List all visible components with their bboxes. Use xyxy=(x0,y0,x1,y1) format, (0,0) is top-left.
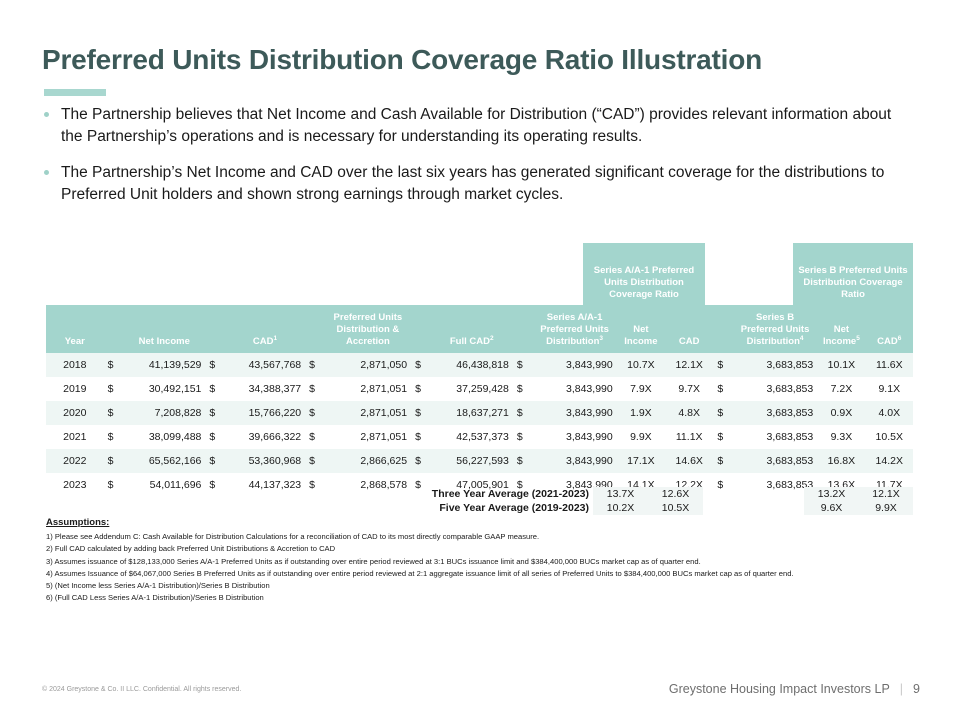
list-item: The Partnership’s Net Income and CAD ove… xyxy=(44,162,914,206)
col-year: Year xyxy=(46,305,104,353)
cell-currency: $ xyxy=(305,449,325,473)
col-series-b-ni-footnote: 5 xyxy=(856,335,860,342)
col-pref-dist-accretion: Preferred Units Distribution & Accretion xyxy=(325,305,411,353)
cell-series-a-cad-ratio: 9.7X xyxy=(665,377,713,401)
cell-currency: $ xyxy=(205,425,225,449)
cell-series-a-cad-ratio: 11.1X xyxy=(665,425,713,449)
footer-company: Greystone Housing Impact Investors LP xyxy=(669,682,890,696)
average-series-b-cad-ratio: 12.1X xyxy=(859,487,913,501)
cell-currency: $ xyxy=(305,377,325,401)
cell-series-a-dist: 3,843,990 xyxy=(532,353,616,377)
cell-full-cad: 56,227,593 xyxy=(431,449,513,473)
assumption-line: 6) (Full CAD Less Series A/A-1 Distribut… xyxy=(46,592,926,604)
table-header: Year Net Income CAD1 Preferred Units Dis… xyxy=(46,305,913,353)
table-row: 2021$38,099,488$39,666,322$2,871,051$42,… xyxy=(46,425,913,449)
average-spacer xyxy=(703,487,804,501)
assumption-line: 1) Please see Addendum C: Cash Available… xyxy=(46,531,926,543)
col-series-b-dist-footnote: 4 xyxy=(800,335,804,342)
bullet-dot-icon xyxy=(44,112,49,117)
cell-currency: $ xyxy=(411,449,431,473)
cell-year: 2018 xyxy=(46,353,104,377)
average-row: Three Year Average (2021-2023)13.7X12.6X… xyxy=(46,487,913,501)
cell-series-b-cad-ratio: 10.5X xyxy=(866,425,913,449)
footer-right: Greystone Housing Impact Investors LP | … xyxy=(669,682,920,696)
average-spacer xyxy=(703,501,804,515)
cell-year: 2021 xyxy=(46,425,104,449)
assumption-line: 3) Assumes issuance of $128,133,000 Seri… xyxy=(46,556,926,568)
cell-pref-dist-accretion: 2,871,051 xyxy=(325,425,411,449)
bullet-dot-icon xyxy=(44,170,49,175)
cell-series-a-dist: 3,843,990 xyxy=(532,401,616,425)
cell-currency: $ xyxy=(104,449,124,473)
averages-section: Three Year Average (2021-2023)13.7X12.6X… xyxy=(46,487,913,515)
cell-currency: $ xyxy=(411,401,431,425)
cell-cad: 15,766,220 xyxy=(225,401,305,425)
average-series-b-net-income-ratio: 13.2X xyxy=(804,487,859,501)
cell-net-income: 38,099,488 xyxy=(123,425,205,449)
bullet-list: The Partnership believes that Net Income… xyxy=(44,104,914,220)
cell-pref-dist-accretion: 2,871,051 xyxy=(325,401,411,425)
col-series-a-dist-footnote: 3 xyxy=(599,335,603,342)
bullet-text: The Partnership believes that Net Income… xyxy=(61,104,914,148)
cell-currency: $ xyxy=(205,377,225,401)
assumption-line: 5) (Net Income less Series A/A-1 Distrib… xyxy=(46,580,926,592)
table-row: 2019$30,492,151$34,388,377$2,871,051$37,… xyxy=(46,377,913,401)
col-series-a-net-income: Net Income xyxy=(617,305,665,353)
cell-currency: $ xyxy=(305,353,325,377)
cell-full-cad: 37,259,428 xyxy=(431,377,513,401)
cell-currency: $ xyxy=(713,377,733,401)
cell-currency: $ xyxy=(513,377,533,401)
assumptions-title: Assumptions: xyxy=(46,517,926,528)
table-row: 2020$7,208,828$15,766,220$2,871,051$18,6… xyxy=(46,401,913,425)
cell-series-b-dist: 3,683,853 xyxy=(733,425,817,449)
cell-currency: $ xyxy=(513,401,533,425)
average-series-a-net-income-ratio: 10.2X xyxy=(593,501,648,515)
cell-series-b-net-income-ratio: 0.9X xyxy=(817,401,865,425)
col-currency-pref-dist xyxy=(305,305,325,353)
cell-currency: $ xyxy=(411,377,431,401)
average-series-b-cad-ratio: 9.9X xyxy=(859,501,913,515)
footer-divider: | xyxy=(900,682,903,696)
cell-series-b-dist: 3,683,853 xyxy=(733,377,817,401)
col-cad: CAD1 xyxy=(225,305,305,353)
assumption-line: 4) Assumes Issuance of $64,067,000 Serie… xyxy=(46,568,926,580)
col-full-cad: Full CAD2 xyxy=(431,305,513,353)
col-cad-footnote: 1 xyxy=(274,335,278,342)
col-series-a-dist: Series A/A-1 Preferred Units Distributio… xyxy=(532,305,616,353)
col-net-income: Net Income xyxy=(123,305,205,353)
cell-full-cad: 46,438,818 xyxy=(431,353,513,377)
col-full-cad-footnote: 2 xyxy=(490,335,494,342)
cell-currency: $ xyxy=(713,401,733,425)
cell-pref-dist-accretion: 2,866,625 xyxy=(325,449,411,473)
average-label: Three Year Average (2021-2023) xyxy=(46,487,593,501)
cell-currency: $ xyxy=(104,377,124,401)
cell-series-a-dist: 3,843,990 xyxy=(532,425,616,449)
average-series-a-cad-ratio: 10.5X xyxy=(648,501,703,515)
col-series-b-cad: CAD6 xyxy=(866,305,913,353)
cell-series-b-net-income-ratio: 9.3X xyxy=(817,425,865,449)
cell-full-cad: 18,637,271 xyxy=(431,401,513,425)
cell-currency: $ xyxy=(513,353,533,377)
cell-currency: $ xyxy=(205,401,225,425)
cell-series-b-dist: 3,683,853 xyxy=(733,449,817,473)
cell-net-income: 30,492,151 xyxy=(123,377,205,401)
col-currency-full-cad xyxy=(411,305,431,353)
cell-currency: $ xyxy=(411,353,431,377)
cell-series-b-cad-ratio: 14.2X xyxy=(866,449,913,473)
table-row: 2018$41,139,529$43,567,768$2,871,050$46,… xyxy=(46,353,913,377)
cell-cad: 43,567,768 xyxy=(225,353,305,377)
cell-full-cad: 42,537,373 xyxy=(431,425,513,449)
average-label: Five Year Average (2019-2023) xyxy=(46,501,593,515)
cell-net-income: 7,208,828 xyxy=(123,401,205,425)
average-series-b-net-income-ratio: 9.6X xyxy=(804,501,859,515)
table-body: 2018$41,139,529$43,567,768$2,871,050$46,… xyxy=(46,353,913,497)
cell-series-b-cad-ratio: 11.6X xyxy=(866,353,913,377)
col-series-b-cad-footnote: 6 xyxy=(898,335,902,342)
cell-currency: $ xyxy=(713,353,733,377)
average-series-a-net-income-ratio: 13.7X xyxy=(593,487,648,501)
cell-pref-dist-accretion: 2,871,050 xyxy=(325,353,411,377)
group-header-series-a: Series A/A-1 Preferred Units Distributio… xyxy=(583,243,705,305)
col-currency-series-b-dist xyxy=(713,305,733,353)
cell-series-a-dist: 3,843,990 xyxy=(532,449,616,473)
cell-currency: $ xyxy=(104,353,124,377)
cell-series-a-cad-ratio: 14.6X xyxy=(665,449,713,473)
average-row: Five Year Average (2019-2023)10.2X10.5X9… xyxy=(46,501,913,515)
cell-currency: $ xyxy=(513,425,533,449)
col-currency-series-a-dist xyxy=(513,305,533,353)
cell-currency: $ xyxy=(205,353,225,377)
cell-pref-dist-accretion: 2,871,051 xyxy=(325,377,411,401)
cell-series-a-net-income-ratio: 1.9X xyxy=(617,401,665,425)
title-accent-rule xyxy=(44,89,106,96)
cell-net-income: 65,562,166 xyxy=(123,449,205,473)
footer-copyright: © 2024 Greystone & Co. II LLC. Confident… xyxy=(42,686,241,693)
col-series-a-cad: CAD xyxy=(665,305,713,353)
cell-currency: $ xyxy=(305,401,325,425)
cell-currency: $ xyxy=(104,425,124,449)
col-series-b-dist: Series B Preferred Units Distribution4 xyxy=(733,305,817,353)
col-currency-cad xyxy=(205,305,225,353)
cell-net-income: 41,139,529 xyxy=(123,353,205,377)
group-header-series-b: Series B Preferred Units Distribution Co… xyxy=(793,243,913,305)
cell-series-b-dist: 3,683,853 xyxy=(733,401,817,425)
coverage-ratio-table: Year Net Income CAD1 Preferred Units Dis… xyxy=(46,305,913,497)
cell-series-a-dist: 3,843,990 xyxy=(532,377,616,401)
cell-cad: 34,388,377 xyxy=(225,377,305,401)
cell-series-a-cad-ratio: 12.1X xyxy=(665,353,713,377)
cell-series-b-net-income-ratio: 16.8X xyxy=(817,449,865,473)
assumption-line: 2) Full CAD calculated by adding back Pr… xyxy=(46,543,926,555)
cell-currency: $ xyxy=(104,401,124,425)
cell-series-b-cad-ratio: 4.0X xyxy=(866,401,913,425)
slide-canvas: Preferred Units Distribution Coverage Ra… xyxy=(0,0,960,720)
cell-series-b-cad-ratio: 9.1X xyxy=(866,377,913,401)
cell-series-b-dist: 3,683,853 xyxy=(733,353,817,377)
col-series-b-net-income: Net Income5 xyxy=(817,305,865,353)
cell-year: 2022 xyxy=(46,449,104,473)
cell-currency: $ xyxy=(513,449,533,473)
page-number: 9 xyxy=(913,682,920,696)
cell-currency: $ xyxy=(411,425,431,449)
cell-cad: 53,360,968 xyxy=(225,449,305,473)
cell-series-a-net-income-ratio: 17.1X xyxy=(617,449,665,473)
cell-year: 2019 xyxy=(46,377,104,401)
cell-series-b-net-income-ratio: 10.1X xyxy=(817,353,865,377)
cell-series-a-net-income-ratio: 10.7X xyxy=(617,353,665,377)
cell-series-a-net-income-ratio: 7.9X xyxy=(617,377,665,401)
cell-series-a-net-income-ratio: 9.9X xyxy=(617,425,665,449)
averages-table: Three Year Average (2021-2023)13.7X12.6X… xyxy=(46,487,913,515)
cell-cad: 39,666,322 xyxy=(225,425,305,449)
page-title: Preferred Units Distribution Coverage Ra… xyxy=(42,44,762,76)
bullet-text: The Partnership’s Net Income and CAD ove… xyxy=(61,162,914,206)
cell-year: 2020 xyxy=(46,401,104,425)
cell-currency: $ xyxy=(713,425,733,449)
cell-currency: $ xyxy=(713,449,733,473)
cell-currency: $ xyxy=(205,449,225,473)
cell-series-b-net-income-ratio: 7.2X xyxy=(817,377,865,401)
col-currency-net-income xyxy=(104,305,124,353)
cell-series-a-cad-ratio: 4.8X xyxy=(665,401,713,425)
cell-currency: $ xyxy=(305,425,325,449)
average-series-a-cad-ratio: 12.6X xyxy=(648,487,703,501)
assumptions-section: Assumptions: 1) Please see Addendum C: C… xyxy=(46,517,926,605)
list-item: The Partnership believes that Net Income… xyxy=(44,104,914,148)
table-row: 2022$65,562,166$53,360,968$2,866,625$56,… xyxy=(46,449,913,473)
table-header-row: Year Net Income CAD1 Preferred Units Dis… xyxy=(46,305,913,353)
